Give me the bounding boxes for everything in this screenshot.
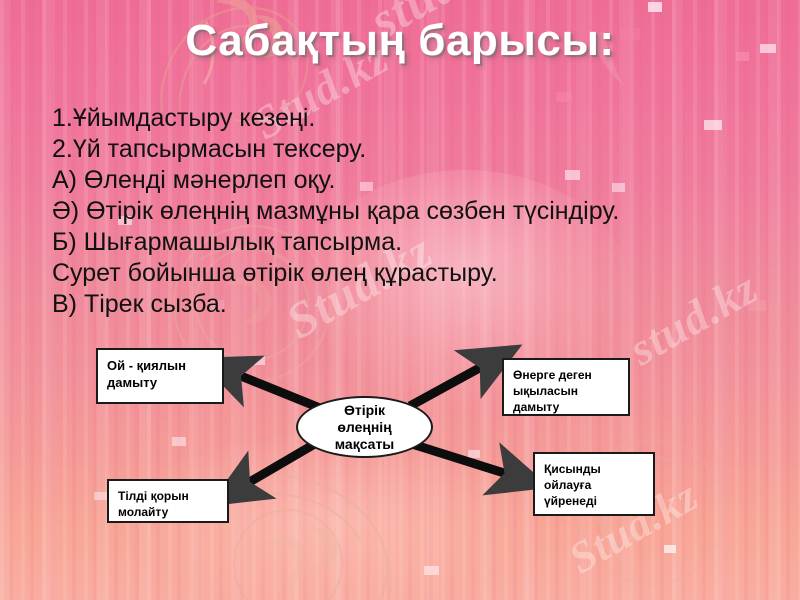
node-label-line: үйренеді	[544, 493, 644, 509]
body-line: Ә) Өтірік өлеңнің мазмұны қара сөзбен тү…	[52, 196, 752, 227]
node-label-line: дамыту	[513, 399, 619, 415]
body-line: А) Өлендi мәнерлеп оқу.	[52, 165, 752, 196]
arrow-to-bottom-left	[236, 442, 318, 490]
body-line: Сурет бойынша өтірік өлең құрастыру.	[52, 258, 752, 289]
diagram-node-top-right[interactable]: Өнерге деген ықыласын дамыту	[502, 358, 630, 416]
center-label-line: Өтірік	[335, 402, 395, 419]
center-label-line: өлеңнің	[335, 419, 395, 436]
slide: stud.kz Stud.kz Stud.kz stud.kz Stud.kz …	[0, 0, 800, 600]
diagram-node-bottom-right[interactable]: Қисынды ойлауға үйренеді	[533, 452, 655, 516]
arrow-to-top-right	[410, 360, 494, 406]
node-label-line: Ой - қиялын	[107, 357, 213, 374]
body-line: 2.Үй тапсырмасын тексеру.	[52, 134, 752, 165]
node-label-line: молайту	[118, 504, 218, 520]
node-label-line: Тілді қорын	[118, 488, 218, 504]
node-label-line: ықыласын	[513, 383, 619, 399]
body-line: 1.Ұйымдастыру кезеңі.	[52, 103, 752, 134]
artifact-block	[648, 2, 662, 12]
node-label-line: ойлауға	[544, 477, 644, 493]
diagram-node-top-left[interactable]: Ой - қиялын дамыту	[96, 348, 224, 404]
node-label-line: Қисынды	[544, 461, 644, 477]
body-line: Б) Шығармашылық тапсырма.	[52, 227, 752, 258]
node-label-line: Өнерге деген	[513, 367, 619, 383]
body-text-block: 1.Ұйымдастыру кезеңі. 2.Үй тапсырмасын т…	[52, 103, 752, 320]
page-title: Сабақтың барысы:	[0, 16, 800, 66]
diagram-center-node[interactable]: Өтірік өлеңнің мақсаты	[296, 396, 433, 458]
node-label-line: дамыту	[107, 374, 213, 391]
artifact-block	[424, 566, 439, 575]
body-line: В) Тірек сызба.	[52, 289, 752, 320]
center-label-line: мақсаты	[335, 436, 395, 453]
arrow-to-bottom-right	[412, 444, 520, 478]
artifact-block	[556, 92, 572, 102]
diagram: Ой - қиялын дамыту Өнерге деген ықыласын…	[0, 330, 800, 560]
diagram-node-bottom-left[interactable]: Тілді қорын молайту	[107, 479, 229, 523]
arrow-to-top-left	[226, 370, 320, 408]
